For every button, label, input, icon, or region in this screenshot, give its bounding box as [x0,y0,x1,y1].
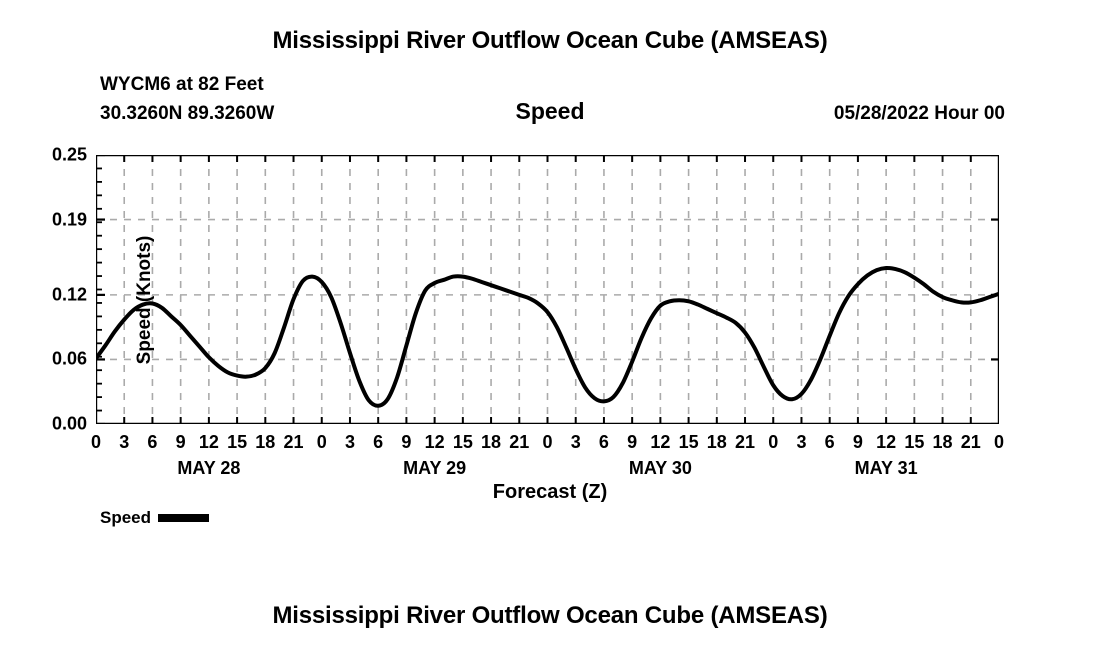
speed-line-chart [96,155,999,424]
page-title-bottom: Mississippi River Outflow Ocean Cube (AM… [0,602,1100,630]
x-tick-label: 6 [825,432,835,453]
x-tick-label: 0 [542,432,552,453]
run-date-label: 05/28/2022 Hour 00 [834,103,1005,125]
x-tick-label: 12 [876,432,896,453]
x-axis-title: Forecast (Z) [0,481,1100,504]
x-tick-label: 3 [345,432,355,453]
legend-line-swatch [158,514,209,522]
y-tick-label: 0.06 [52,349,87,370]
x-tick-label: 3 [119,432,129,453]
x-tick-label: 21 [284,432,304,453]
x-tick-label: 3 [796,432,806,453]
x-tick-label: 9 [176,432,186,453]
day-label: MAY 31 [855,458,918,479]
x-tick-label: 21 [735,432,755,453]
day-label: MAY 28 [177,458,240,479]
x-tick-label: 6 [373,432,383,453]
x-tick-label: 9 [627,432,637,453]
x-tick-label: 15 [904,432,924,453]
y-axis-title: Speed (Knots) [134,185,156,415]
y-tick-label: 0.00 [52,414,87,435]
x-tick-label: 9 [853,432,863,453]
day-label: MAY 29 [403,458,466,479]
x-tick-label: 21 [509,432,529,453]
chart-plot-area: Speed (Knots) 0.000.060.120.190.25 [96,155,999,424]
day-label: MAY 30 [629,458,692,479]
x-tick-label: 15 [227,432,247,453]
x-tick-label: 6 [147,432,157,453]
x-tick-label: 12 [650,432,670,453]
x-tick-label: 0 [317,432,327,453]
x-tick-label: 0 [768,432,778,453]
x-tick-label: 15 [679,432,699,453]
x-tick-label: 18 [255,432,275,453]
y-tick-label: 0.19 [52,209,87,230]
x-tick-label: 12 [425,432,445,453]
x-tick-label: 21 [961,432,981,453]
legend-label: Speed [100,508,151,528]
x-tick-label: 12 [199,432,219,453]
x-tick-label: 0 [994,432,1004,453]
x-tick-label: 18 [707,432,727,453]
chart-legend: Speed [100,508,209,528]
station-label: WYCM6 at 82 Feet [100,74,264,96]
x-tick-label: 9 [401,432,411,453]
x-tick-label: 6 [599,432,609,453]
x-tick-label: 0 [91,432,101,453]
x-tick-label: 15 [453,432,473,453]
y-tick-label: 0.12 [52,284,87,305]
y-tick-label: 0.25 [52,145,87,166]
x-tick-label: 18 [481,432,501,453]
x-tick-label: 3 [571,432,581,453]
page-title-top: Mississippi River Outflow Ocean Cube (AM… [0,27,1100,55]
x-tick-label: 18 [933,432,953,453]
